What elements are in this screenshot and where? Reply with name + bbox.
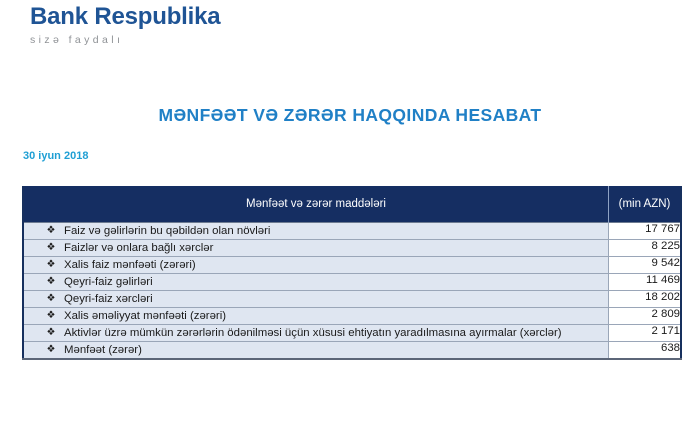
table-cell-label: ❖Aktivlər üzrə mümkün zərərlərin ödənilm… <box>23 325 609 342</box>
diamond-bullet-icon: ❖ <box>24 291 64 307</box>
row-content: ❖Qeyri-faiz gəlirləri <box>24 274 608 290</box>
table-row-value: 2 171 <box>609 325 682 342</box>
report-date: 30 iyun 2018 <box>23 150 88 162</box>
table-row-value: 638 <box>609 342 682 360</box>
table-row-label: Faiz və gəlirlərin bu qəbildən olan növl… <box>64 223 608 239</box>
table-header: Mənfəət və zərər maddələri (min AZN) <box>23 186 681 223</box>
page-title: MƏNFƏƏT VƏ ZƏRƏR HAQQINDA HESABAT <box>0 105 700 126</box>
column-header-unit: (min AZN) <box>609 186 682 223</box>
diamond-bullet-icon: ❖ <box>24 257 64 273</box>
table-row: ❖Faiz və gəlirlərin bu qəbildən olan növ… <box>23 223 681 240</box>
diamond-bullet-icon: ❖ <box>24 325 64 341</box>
table-cell-label: ❖Faiz və gəlirlərin bu qəbildən olan növ… <box>23 223 609 240</box>
row-content: ❖Mənfəət (zərər) <box>24 342 608 358</box>
table-cell-label: ❖Xalis faiz mənfəəti (zərəri) <box>23 257 609 274</box>
table-row-label: Faizlər və onlara bağlı xərclər <box>64 240 608 256</box>
brand-tagline: sizə faydalı <box>30 34 220 46</box>
diamond-bullet-icon: ❖ <box>24 240 64 256</box>
table-row-value: 11 469 <box>609 274 682 291</box>
table-row: ❖Xalis əməliyyat mənfəəti (zərəri)2 809 <box>23 308 681 325</box>
diamond-bullet-icon: ❖ <box>24 223 64 239</box>
profit-loss-table: Mənfəət və zərər maddələri (min AZN) ❖Fa… <box>22 186 682 360</box>
table-cell-label: ❖Qeyri-faiz gəlirləri <box>23 274 609 291</box>
table-row-value: 2 809 <box>609 308 682 325</box>
table-cell-label: ❖Mənfəət (zərər) <box>23 342 609 360</box>
row-content: ❖Qeyri-faiz xərcləri <box>24 291 608 307</box>
table-row: ❖Aktivlər üzrə mümkün zərərlərin ödənilm… <box>23 325 681 342</box>
diamond-bullet-icon: ❖ <box>24 308 64 324</box>
table-cell-label: ❖Xalis əməliyyat mənfəəti (zərəri) <box>23 308 609 325</box>
table-row: ❖Xalis faiz mənfəəti (zərəri)9 542 <box>23 257 681 274</box>
diamond-bullet-icon: ❖ <box>24 274 64 290</box>
table-body: ❖Faiz və gəlirlərin bu qəbildən olan növ… <box>23 223 681 360</box>
report-table-container: Mənfəət və zərər maddələri (min AZN) ❖Fa… <box>22 186 682 360</box>
table-row-value: 17 767 <box>609 223 682 240</box>
table-row-label: Aktivlər üzrə mümkün zərərlərin ödənilmə… <box>64 325 608 341</box>
column-header-label: Mənfəət və zərər maddələri <box>23 186 609 223</box>
table-row-label: Mənfəət (zərər) <box>64 342 608 358</box>
table-cell-label: ❖Faizlər və onlara bağlı xərclər <box>23 240 609 257</box>
brand-name: Bank Respublika <box>30 4 220 30</box>
brand-logo: Bank Respublika sizə faydalı <box>30 4 220 46</box>
row-content: ❖Faizlər və onlara bağlı xərclər <box>24 240 608 256</box>
row-content: ❖Xalis faiz mənfəəti (zərəri) <box>24 257 608 273</box>
table-row-label: Qeyri-faiz xərcləri <box>64 291 608 307</box>
table-row-value: 18 202 <box>609 291 682 308</box>
table-header-row: Mənfəət və zərər maddələri (min AZN) <box>23 186 681 223</box>
table-row: ❖Mənfəət (zərər)638 <box>23 342 681 360</box>
table-row-label: Xalis əməliyyat mənfəəti (zərəri) <box>64 308 608 324</box>
diamond-bullet-icon: ❖ <box>24 342 64 358</box>
row-content: ❖Xalis əməliyyat mənfəəti (zərəri) <box>24 308 608 324</box>
table-row-value: 8 225 <box>609 240 682 257</box>
row-content: ❖Aktivlər üzrə mümkün zərərlərin ödənilm… <box>24 325 608 341</box>
table-row: ❖Faizlər və onlara bağlı xərclər8 225 <box>23 240 681 257</box>
row-content: ❖Faiz və gəlirlərin bu qəbildən olan növ… <box>24 223 608 239</box>
table-row: ❖Qeyri-faiz xərcləri18 202 <box>23 291 681 308</box>
table-row-label: Qeyri-faiz gəlirləri <box>64 274 608 290</box>
table-row: ❖Qeyri-faiz gəlirləri11 469 <box>23 274 681 291</box>
table-row-value: 9 542 <box>609 257 682 274</box>
table-cell-label: ❖Qeyri-faiz xərcləri <box>23 291 609 308</box>
table-row-label: Xalis faiz mənfəəti (zərəri) <box>64 257 608 273</box>
